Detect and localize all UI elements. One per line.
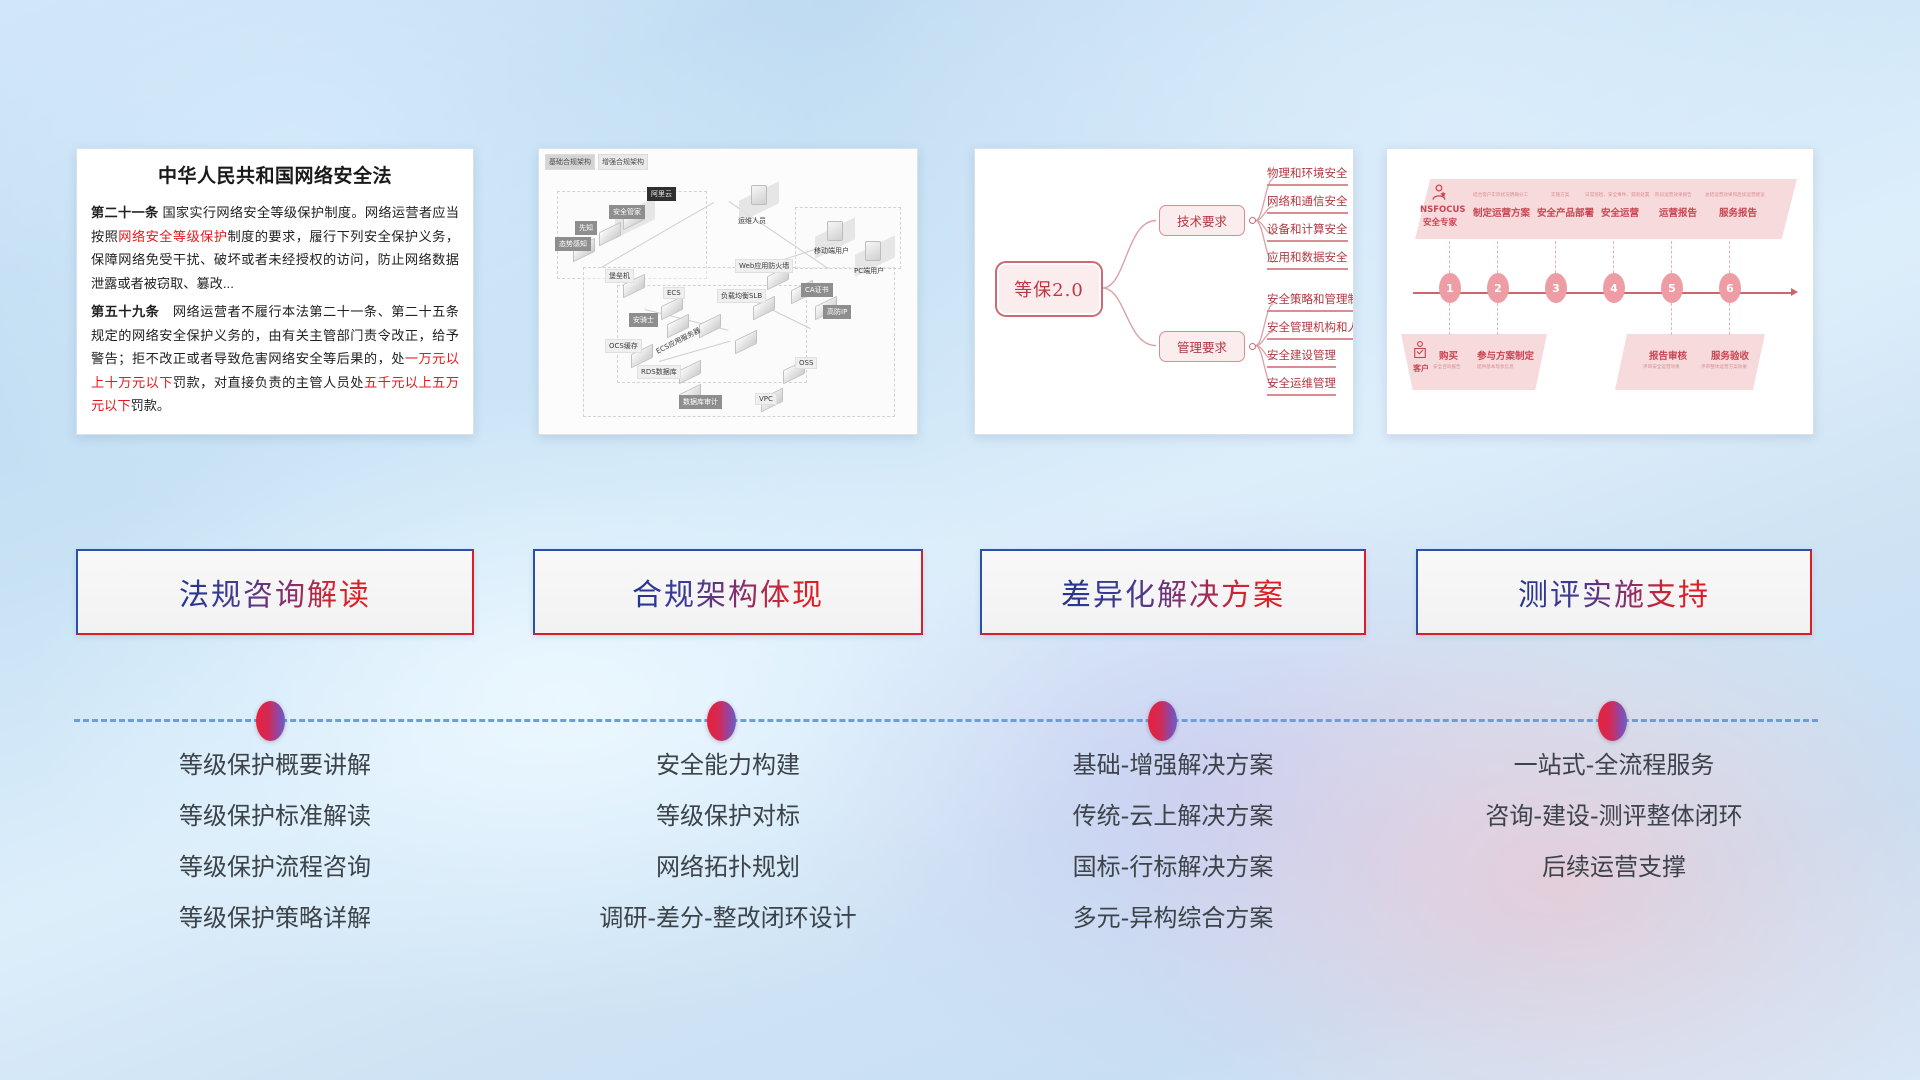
- nsfocus-top-step-note: 阶段运营效果报告: [1655, 192, 1692, 198]
- law-article-59: 第五十九条 网络运营者不履行本法第二十一条、第二十五条规定的网络安全保护义务的，…: [91, 300, 459, 418]
- timeline-track: [0, 695, 1920, 745]
- nsfocus-tick: [1613, 241, 1614, 273]
- nsfocus-timeline: NSFOCUS 安全专家 客户 制定运营方案 结合客户实际状况明确分工 安全产品…: [1387, 149, 1813, 434]
- title-box-evaluation-support[interactable]: 测评实施支持: [1416, 549, 1812, 635]
- nsfocus-tick: [1671, 241, 1672, 273]
- card-cloud-architecture[interactable]: 基础合规架构 增强合规架构: [538, 148, 918, 435]
- nsfocus-tick: [1497, 303, 1498, 335]
- law-article-21: 第二十一条 国家实行网络安全等级保护制度。网络运营者应当按照网络安全等级保护制度…: [91, 201, 459, 295]
- mindmap-leaf: 安全策略和管理制度: [1267, 291, 1354, 312]
- architecture-label-taishi: 态势感知: [555, 237, 591, 251]
- architecture-label-rds: RDS数据库: [637, 365, 681, 379]
- nsfocus-bottom-step-note: 评审安全运营效果: [1643, 364, 1680, 370]
- law-article-59-mid: 罚款，对直接负责的主管人员处: [173, 375, 364, 390]
- law-article-59-label: 第五十九条: [91, 304, 159, 319]
- list-item: 多元-异构综合方案: [980, 893, 1366, 944]
- nsfocus-bottom-step-note: 安全咨询报告: [1433, 364, 1461, 370]
- nsfocus-top-step-title: 安全产品部署: [1537, 205, 1594, 219]
- nsfocus-tick: [1497, 241, 1498, 273]
- architecture-tabs: 基础合规架构 增强合规架构: [545, 154, 648, 170]
- nsfocus-top-step-note: 结合客户实际状况明确分工: [1473, 192, 1528, 198]
- detail-list-evaluation-support: 一站式-全流程服务 咨询-建设-测评整体闭环 后续运营支撑: [1416, 740, 1812, 893]
- timeline-marker-3[interactable]: [1148, 701, 1177, 741]
- architecture-label-ops: 运维人员: [735, 215, 769, 227]
- architecture-diagram: 基础合规架构 增强合规架构: [539, 149, 917, 434]
- mindmap-leaf: 网络和通信安全: [1267, 193, 1348, 214]
- nsfocus-tick: [1449, 241, 1450, 273]
- nsfocus-top-step-title: 制定运营方案: [1473, 205, 1530, 219]
- list-item: 网络拓扑规划: [533, 842, 923, 893]
- mindmap-leaf: 安全建设管理: [1267, 347, 1336, 368]
- nsfocus-customer-label: 客户: [1413, 363, 1429, 374]
- nsfocus-expert-brand: NSFOCUS: [1420, 205, 1466, 215]
- mindmap-leaf: 安全管理机构和人员: [1267, 319, 1354, 340]
- law-article-59-post: 罚款。: [131, 398, 171, 413]
- mindmap-diagram: 等保2.0 技术要求 物理和环境安全 网络和通信安全 设备和计算安全 应用和数据…: [975, 149, 1353, 434]
- nsfocus-node-1[interactable]: 1: [1439, 273, 1461, 303]
- card-nsfocus-timeline[interactable]: NSFOCUS 安全专家 客户 制定运营方案 结合客户实际状况明确分工 安全产品…: [1386, 148, 1814, 435]
- detail-lists-row: 等级保护概要讲解 等级保护标准解读 等级保护流程咨询 等级保护策略详解 安全能力…: [0, 740, 1920, 970]
- mindmap-collapse-icon[interactable]: [1249, 343, 1256, 350]
- list-item: 等级保护对标: [533, 791, 923, 842]
- nsfocus-bottom-step-title: 购买: [1439, 348, 1458, 362]
- title-boxes-row: 法规咨询解读 合规架构体现 差异化解决方案 测评实施支持: [0, 549, 1920, 639]
- architecture-tab-enhanced[interactable]: 增强合规架构: [598, 154, 648, 170]
- architecture-label-dbaudit: 数据库审计: [679, 395, 722, 409]
- nsfocus-bottom-step-title: 服务验收: [1711, 348, 1749, 362]
- list-item: 等级保护标准解读: [76, 791, 474, 842]
- nsfocus-node-4[interactable]: 4: [1603, 273, 1625, 303]
- architecture-label-pc: PC端用户: [851, 265, 887, 277]
- law-article-21-label: 第二十一条: [91, 205, 158, 220]
- nsfocus-top-step-note: 实施方案: [1551, 192, 1569, 198]
- card-cybersecurity-law[interactable]: 中华人民共和国网络安全法 第二十一条 国家实行网络安全等级保护制度。网络运营者应…: [76, 148, 474, 435]
- timeline-marker-2[interactable]: [707, 701, 736, 741]
- nsfocus-tick: [1671, 303, 1672, 335]
- architecture-label-ocs: OCS缓存: [605, 339, 642, 353]
- mindmap-leaf: 安全运维管理: [1267, 375, 1336, 396]
- nsfocus-axis-arrow: [1791, 288, 1798, 296]
- list-item: 基础-增强解决方案: [980, 740, 1366, 791]
- nsfocus-bottom-step-title: 参与方案制定: [1477, 348, 1534, 362]
- list-item: 咨询-建设-测评整体闭环: [1416, 791, 1812, 842]
- mindmap-branch-management[interactable]: 管理要求: [1159, 331, 1245, 362]
- architecture-label-vpc: VPC: [755, 393, 777, 405]
- security-expert-icon: [1429, 183, 1449, 203]
- architecture-label-waf: Web应用防火墙: [735, 259, 793, 273]
- list-item: 等级保护概要讲解: [76, 740, 474, 791]
- mindmap-leaf: 设备和计算安全: [1267, 221, 1348, 242]
- title-label: 合规架构体现: [632, 570, 824, 614]
- nsfocus-top-step-note: 总结运营效果和后续运营建议: [1705, 192, 1765, 198]
- law-title: 中华人民共和国网络安全法: [91, 161, 459, 188]
- detail-list-compliance-architecture: 安全能力构建 等级保护对标 网络拓扑规划 调研-差分-整改闭环设计: [533, 740, 923, 944]
- mindmap-collapse-icon[interactable]: [1249, 217, 1256, 224]
- title-box-regulation-consulting[interactable]: 法规咨询解读: [76, 549, 474, 635]
- nsfocus-node-3[interactable]: 3: [1545, 273, 1567, 303]
- title-box-differentiated-solution[interactable]: 差异化解决方案: [980, 549, 1366, 635]
- timeline-marker-1[interactable]: [256, 701, 285, 741]
- nsfocus-top-step-title: 服务报告: [1719, 205, 1757, 219]
- nsfocus-node-5[interactable]: 5: [1661, 273, 1683, 303]
- nsfocus-top-step-title: 运营报告: [1659, 205, 1697, 219]
- mindmap-branch-technical[interactable]: 技术要求: [1159, 205, 1245, 236]
- nsfocus-top-step-note: 日常巡检、安全事件、漏洞处置: [1585, 192, 1649, 198]
- architecture-tab-basic[interactable]: 基础合规架构: [545, 154, 595, 170]
- list-item: 传统-云上解决方案: [980, 791, 1366, 842]
- mindmap-root-node[interactable]: 等保2.0: [995, 261, 1103, 317]
- nsfocus-tick: [1555, 241, 1556, 273]
- mindmap-leaf: 物理和环境安全: [1267, 165, 1348, 186]
- architecture-label-xianzhi: 先知: [575, 221, 597, 235]
- nsfocus-top-step-title: 安全运营: [1601, 205, 1639, 219]
- detail-list-differentiated-solution: 基础-增强解决方案 传统-云上解决方案 国标-行标解决方案 多元-异构综合方案: [980, 740, 1366, 944]
- image-cards-row: 中华人民共和国网络安全法 第二十一条 国家实行网络安全等级保护制度。网络运营者应…: [0, 148, 1920, 448]
- list-item: 安全能力构建: [533, 740, 923, 791]
- law-document: 中华人民共和国网络安全法 第二十一条 国家实行网络安全等级保护制度。网络运营者应…: [77, 149, 473, 431]
- nsfocus-tick: [1449, 303, 1450, 335]
- architecture-node-icon: [865, 241, 881, 261]
- list-item: 等级保护流程咨询: [76, 842, 474, 893]
- customer-icon: [1411, 339, 1429, 361]
- card-mindmap[interactable]: 等保2.0 技术要求 物理和环境安全 网络和通信安全 设备和计算安全 应用和数据…: [974, 148, 1354, 435]
- architecture-label-mobile: 移动端用户: [811, 245, 852, 257]
- architecture-label-ecs: ECS: [663, 287, 685, 299]
- title-label: 法规咨询解读: [179, 570, 371, 614]
- architecture-label-ca: CA证书: [801, 283, 833, 297]
- list-item: 后续运营支撑: [1416, 842, 1812, 893]
- nsfocus-bottom-step-note: 提供基本现状信息: [1477, 364, 1514, 370]
- nsfocus-tick: [1729, 241, 1730, 273]
- mindmap-leaf: 应用和数据安全: [1267, 249, 1348, 270]
- architecture-node-icon: [827, 221, 843, 241]
- detail-list-regulation-consulting: 等级保护概要讲解 等级保护标准解读 等级保护流程咨询 等级保护策略详解: [76, 740, 474, 944]
- nsfocus-node-6[interactable]: 6: [1719, 273, 1741, 303]
- nsfocus-tick: [1729, 303, 1730, 335]
- title-label: 差异化解决方案: [1061, 570, 1285, 614]
- nsfocus-bottom-step-note: 评审整体运营方案效果: [1701, 364, 1747, 370]
- title-label: 测评实施支持: [1518, 570, 1710, 614]
- nsfocus-bottom-band-right: [1615, 334, 1765, 390]
- architecture-label-aliyun: 阿里云: [647, 187, 676, 201]
- list-item: 等级保护策略详解: [76, 893, 474, 944]
- architecture-label-gaofangip: 高防IP: [823, 305, 851, 319]
- law-article-21-highlight: 网络安全等级保护: [118, 229, 227, 244]
- timeline-marker-4[interactable]: [1598, 701, 1627, 741]
- architecture-label-anquanguanjia: 安全管家: [609, 205, 645, 219]
- architecture-label-oss: OSS: [795, 357, 817, 369]
- architecture-label-slb: 负载均衡SLB: [717, 289, 766, 303]
- title-box-compliance-architecture[interactable]: 合规架构体现: [533, 549, 923, 635]
- timeline-dashed-line: [74, 719, 1818, 722]
- nsfocus-node-2[interactable]: 2: [1487, 273, 1509, 303]
- list-item: 一站式-全流程服务: [1416, 740, 1812, 791]
- nsfocus-bottom-step-title: 报告审核: [1649, 348, 1687, 362]
- list-item: 国标-行标解决方案: [980, 842, 1366, 893]
- list-item: 调研-差分-整改闭环设计: [533, 893, 923, 944]
- architecture-node-icon: [751, 185, 767, 205]
- architecture-label-baoleiji: 堡垒机: [605, 269, 634, 283]
- nsfocus-expert-role: 安全专家: [1423, 216, 1457, 228]
- architecture-label-anqishi: 安骑士: [629, 313, 658, 327]
